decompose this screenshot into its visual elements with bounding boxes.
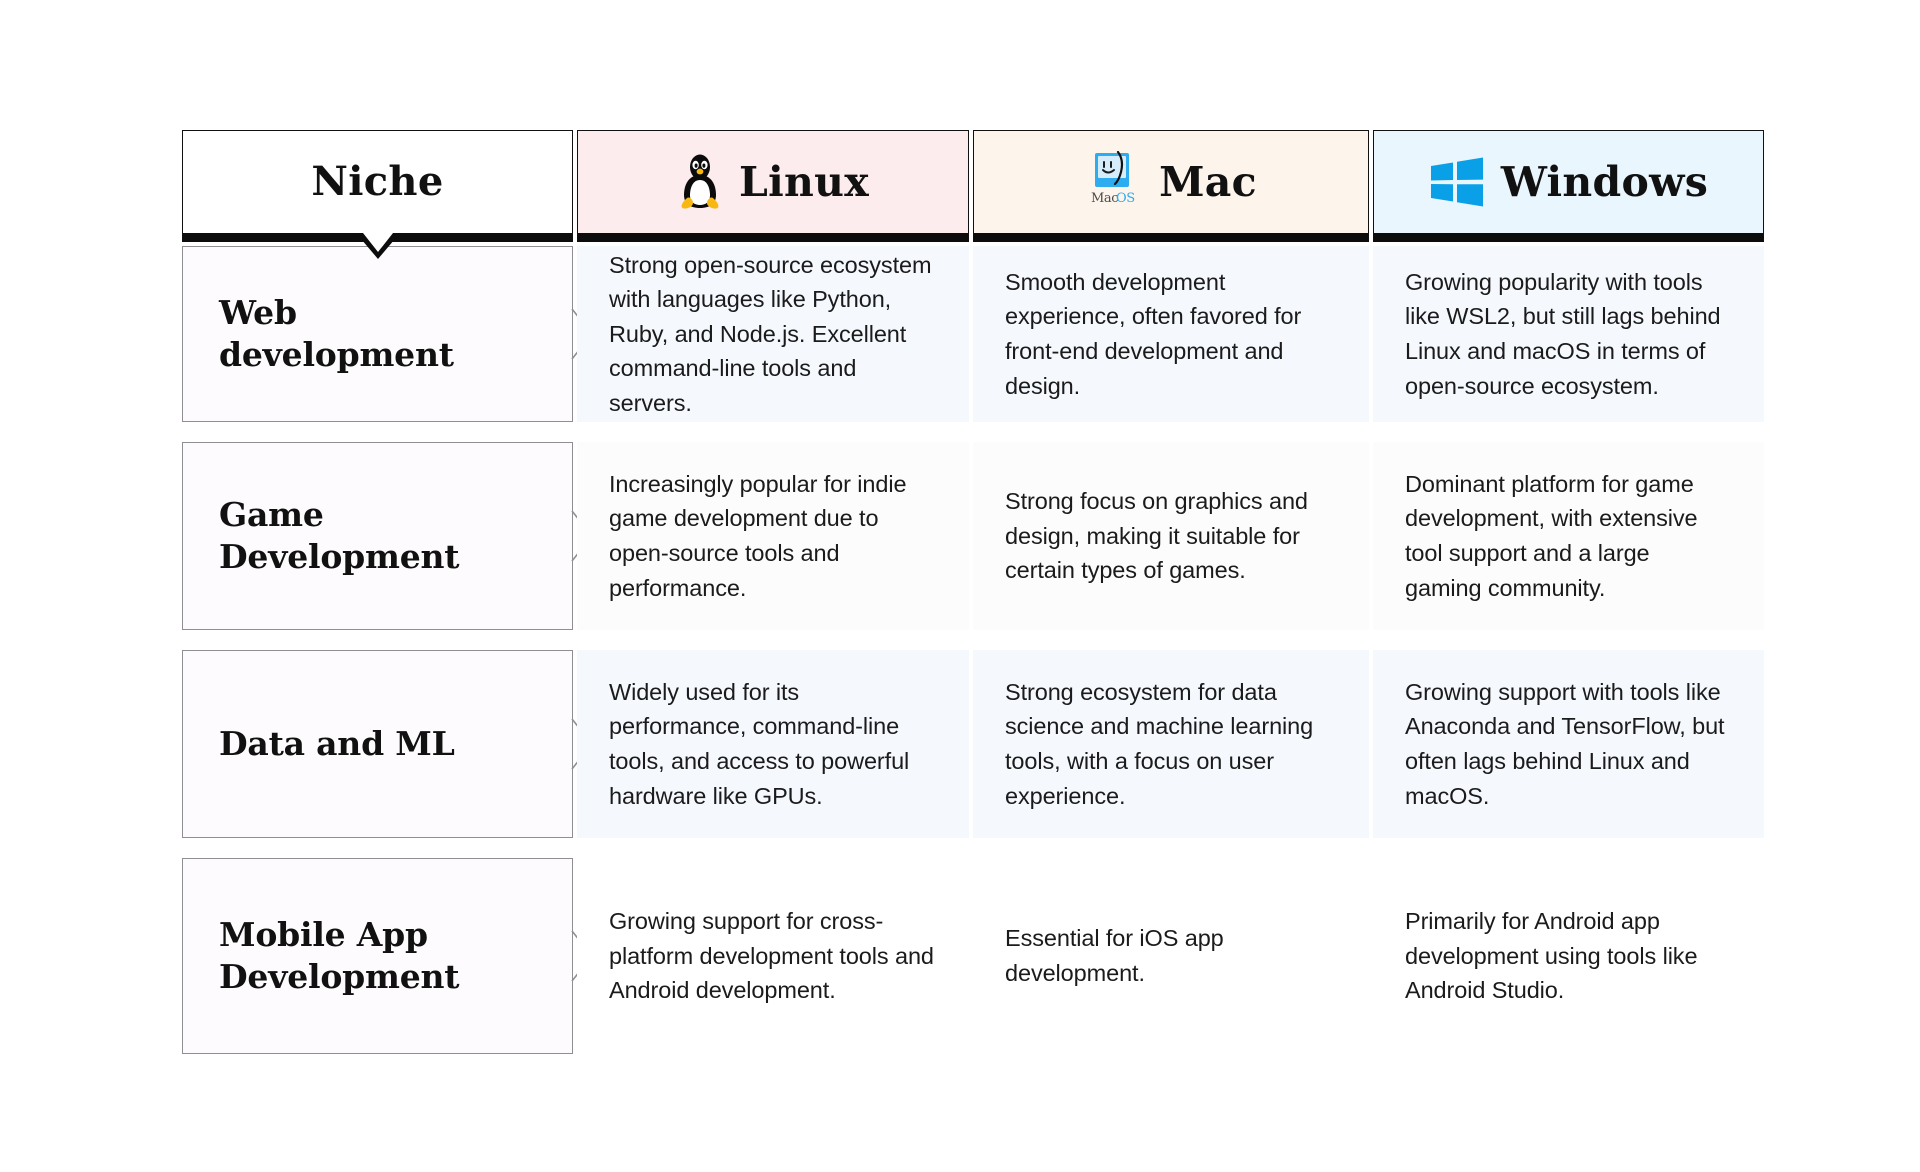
column-header-mac[interactable]: Mac OS Mac [973, 130, 1369, 242]
column-header-windows[interactable]: Windows [1373, 130, 1764, 242]
table-row: Data and ML Widely used for its performa… [182, 650, 1764, 838]
niche-cell[interactable]: Game Development [182, 442, 573, 630]
description-cell-windows: Growing support with tools like Anaconda… [1373, 650, 1764, 838]
description-text: Growing support with tools like Anaconda… [1405, 675, 1730, 813]
table-row: Mobile App Development Growing support f… [182, 858, 1764, 1054]
column-header-label-mac: Mac [1159, 162, 1257, 203]
description-text: Primarily for Android app development us… [1405, 904, 1730, 1008]
row-gap [182, 630, 1764, 650]
macos-happy-mac-logo-icon: Mac OS [1085, 151, 1143, 213]
windows-flag-logo-icon [1429, 157, 1485, 207]
platform-comparison-table: Niche Linux [182, 130, 1764, 1054]
niche-cell[interactable]: Web development [182, 246, 573, 422]
table-row: Web development Strong open-source ecosy… [182, 246, 1764, 422]
description-text: Strong ecosystem for data science and ma… [1005, 675, 1335, 813]
macos-wordmark-mac: Mac [1091, 191, 1118, 206]
column-header-linux[interactable]: Linux [577, 130, 969, 242]
description-text: Widely used for its performance, command… [609, 675, 935, 813]
description-cell-mac: Strong ecosystem for data science and ma… [973, 650, 1369, 838]
description-text: Dominant platform for game development, … [1405, 467, 1730, 605]
description-text: Essential for iOS app development. [1005, 921, 1335, 990]
description-text: Strong focus on graphics and design, mak… [1005, 484, 1335, 588]
description-cell-linux: Increasingly popular for indie game deve… [577, 442, 969, 630]
table-row: Game Development Increasingly popular fo… [182, 442, 1764, 630]
description-text: Increasingly popular for indie game deve… [609, 467, 935, 605]
description-cell-mac: Strong focus on graphics and design, mak… [973, 442, 1369, 630]
niche-label: Data and ML [219, 723, 455, 765]
description-text: Smooth development experience, often fav… [1005, 265, 1335, 403]
description-cell-windows: Dominant platform for game development, … [1373, 442, 1764, 630]
column-header-niche[interactable]: Niche [182, 130, 573, 242]
niche-label: Web development [219, 292, 536, 376]
description-text: Growing popularity with tools like WSL2,… [1405, 265, 1730, 403]
description-cell-mac: Essential for iOS app development. [973, 858, 1369, 1054]
niche-cell[interactable]: Mobile App Development [182, 858, 573, 1054]
niche-label: Mobile App Development [219, 914, 536, 998]
table-header-row: Niche Linux [182, 130, 1764, 242]
row-gap [182, 838, 1764, 858]
description-cell-windows: Primarily for Android app development us… [1373, 858, 1764, 1054]
macos-wordmark-os: OS [1116, 191, 1135, 206]
column-header-label-niche: Niche [311, 162, 443, 202]
description-cell-linux: Growing support for cross-platform devel… [577, 858, 969, 1054]
description-cell-windows: Growing popularity with tools like WSL2,… [1373, 246, 1764, 422]
description-cell-mac: Smooth development experience, often fav… [973, 246, 1369, 422]
description-text: Growing support for cross-platform devel… [609, 904, 935, 1008]
description-cell-linux: Widely used for its performance, command… [577, 650, 969, 838]
niche-label: Game Development [219, 494, 536, 578]
row-gap [182, 422, 1764, 442]
niche-cell[interactable]: Data and ML [182, 650, 573, 838]
header-notch-chevron-down-icon [356, 233, 400, 259]
comparison-table-canvas: Niche Linux [0, 0, 1920, 1172]
column-header-label-linux: Linux [739, 162, 869, 203]
description-text: Strong open-source ecosystem with langua… [609, 248, 935, 421]
description-cell-linux: Strong open-source ecosystem with langua… [577, 246, 969, 422]
linux-tux-logo-icon [677, 154, 723, 210]
column-header-label-windows: Windows [1501, 162, 1708, 203]
